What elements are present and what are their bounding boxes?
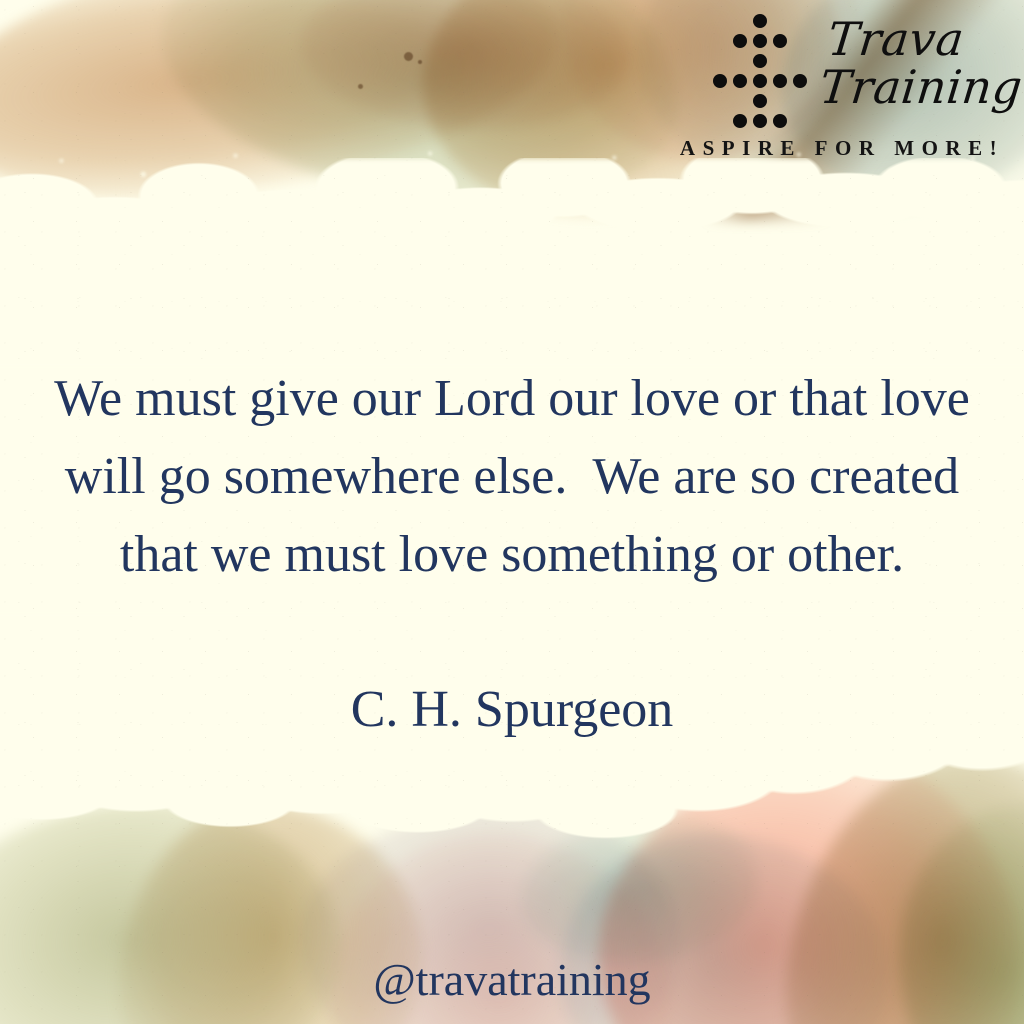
quote-attribution: C. H. Spurgeon <box>0 680 1024 739</box>
brand-logo[interactable]: Trava Training ASPIRE FOR MORE! <box>668 8 1014 168</box>
watercolor-blob-sage <box>149 0 691 222</box>
dotted-cross-icon <box>704 12 824 130</box>
brand-line-1: Trava <box>825 12 967 66</box>
quote-line: We must give our Lord our love or that l… <box>0 360 1024 438</box>
watercolor-blob-peach <box>296 0 634 139</box>
torn-edge-top-band <box>0 158 1024 368</box>
quote-line: that we must love something or other. <box>0 516 1024 594</box>
brand-tagline: ASPIRE FOR MORE! <box>670 136 1014 161</box>
brand-wordmark: Trava Training <box>820 4 1020 130</box>
social-handle[interactable]: @travatraining <box>0 953 1024 1006</box>
brand-line-2: Training <box>817 60 1024 114</box>
quote-line: will go somewhere else. We are so create… <box>0 438 1024 516</box>
quote-card: Trava Training ASPIRE FOR MORE! We must … <box>0 0 1024 1024</box>
watercolor-speckle <box>404 52 413 61</box>
watercolor-speckle <box>358 84 363 89</box>
watercolor-blob-tan-left <box>0 0 570 222</box>
quote-text-block: We must give our Lord our love or that l… <box>0 360 1024 594</box>
watercolor-speckle <box>418 60 422 64</box>
